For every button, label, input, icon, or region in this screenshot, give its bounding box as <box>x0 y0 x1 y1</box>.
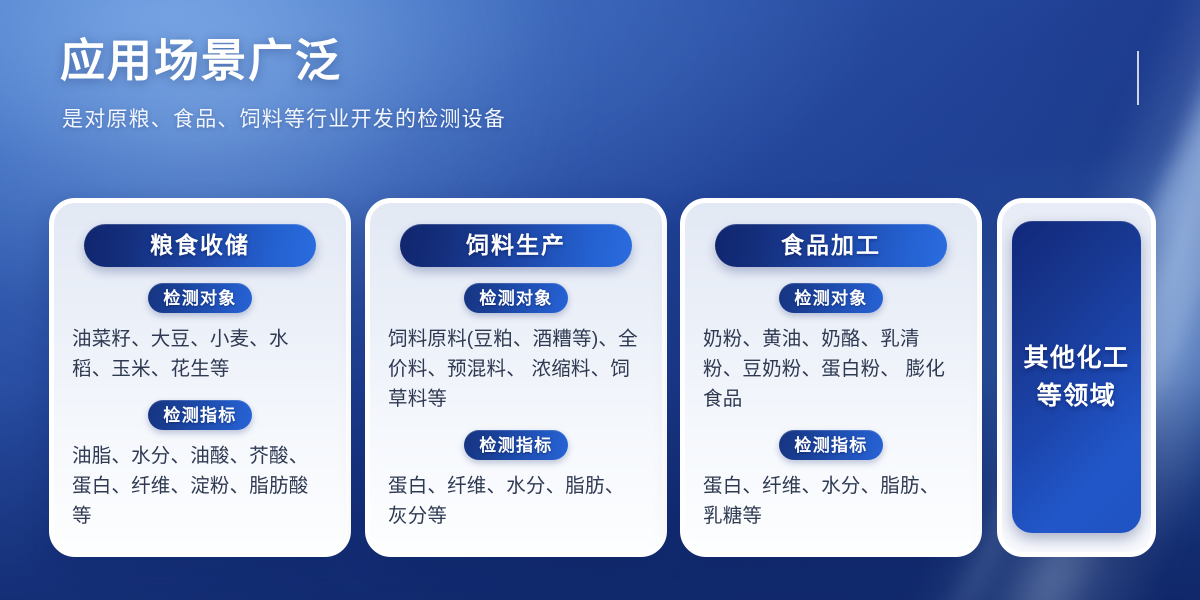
card-body: 检测对象 油菜籽、大豆、小麦、水稻、玉米、花生等 检测指标 油脂、水分、油酸、芥… <box>54 283 346 531</box>
detection-index-badge: 检测指标 <box>464 430 567 460</box>
detection-index-badge: 检测指标 <box>779 430 882 460</box>
other-card-line-2: 等领域 <box>1037 382 1117 410</box>
detection-index-badge-label: 检测指标 <box>163 407 236 424</box>
other-card-line-1: 其他化工 <box>1023 344 1129 372</box>
detection-index-text: 蛋白、纤维、水分、脂肪、灰分等 <box>388 471 644 531</box>
spacer <box>703 414 959 430</box>
card-body: 检测对象 奶粉、黄油、奶酪、乳清粉、豆奶粉、蛋白粉、 膨化食品 检测指标 蛋白、… <box>685 283 977 531</box>
detection-object-text: 奶粉、黄油、奶酪、乳清粉、豆奶粉、蛋白粉、 膨化食品 <box>703 324 959 414</box>
card-title-pill: 饲料生产 <box>400 224 632 267</box>
detection-object-badge: 检测对象 <box>148 283 251 313</box>
banner-header: 应用场景广泛 是对原粮、食品、饲料等行业开发的检测设备 <box>60 38 506 130</box>
detection-object-text: 油菜籽、大豆、小麦、水稻、玉米、花生等 <box>72 324 328 384</box>
detection-object-text: 饲料原料(豆粕、酒糟等)、全价料、预混料、 浓缩料、饲草料等 <box>388 324 644 414</box>
detection-object-badge: 检测对象 <box>779 283 882 313</box>
spacer <box>388 414 644 430</box>
other-card-label: 其他化工 等领域 <box>1023 339 1129 415</box>
banner-stage: 应用场景广泛 是对原粮、食品、饲料等行业开发的检测设备 粮食收储 检测对象 油菜… <box>0 0 1200 600</box>
object-badge-row: 检测对象 <box>703 283 959 313</box>
detection-object-badge-label: 检测对象 <box>794 290 867 307</box>
card-body: 检测对象 饲料原料(豆粕、酒糟等)、全价料、预混料、 浓缩料、饲草料等 检测指标… <box>370 283 662 531</box>
object-badge-row: 检测对象 <box>72 283 328 313</box>
card-title-label: 食品加工 <box>781 234 881 257</box>
other-card-panel: 其他化工 等领域 <box>1012 221 1141 533</box>
scenario-card-grain-storage[interactable]: 粮食收储 检测对象 油菜籽、大豆、小麦、水稻、玉米、花生等 检测指标 油脂、水分… <box>49 198 351 557</box>
index-badge-row: 检测指标 <box>388 430 644 460</box>
detection-index-badge-label: 检测指标 <box>794 437 867 454</box>
detection-object-badge-label: 检测对象 <box>163 290 236 307</box>
detection-object-badge: 检测对象 <box>464 283 567 313</box>
detection-index-badge: 检测指标 <box>148 400 251 430</box>
scenario-card-feed-production[interactable]: 饲料生产 检测对象 饲料原料(豆粕、酒糟等)、全价料、预混料、 浓缩料、饲草料等… <box>365 198 667 557</box>
detection-index-text: 油脂、水分、油酸、芥酸、蛋白、纤维、淀粉、脂肪酸等 <box>72 441 328 531</box>
scenario-card-other-chemical[interactable]: 其他化工 等领域 <box>997 198 1156 557</box>
index-badge-row: 检测指标 <box>703 430 959 460</box>
index-badge-row: 检测指标 <box>72 400 328 430</box>
scenario-card-food-processing[interactable]: 食品加工 检测对象 奶粉、黄油、奶酪、乳清粉、豆奶粉、蛋白粉、 膨化食品 检测指… <box>680 198 982 557</box>
header-divider-rule <box>1137 51 1139 105</box>
card-title-pill: 粮食收储 <box>84 224 316 267</box>
card-title-pill: 食品加工 <box>715 224 947 267</box>
detection-object-badge-label: 检测对象 <box>479 290 552 307</box>
detection-index-text: 蛋白、纤维、水分、脂肪、乳糖等 <box>703 471 959 531</box>
scenario-card-row: 粮食收储 检测对象 油菜籽、大豆、小麦、水稻、玉米、花生等 检测指标 油脂、水分… <box>49 198 1156 558</box>
page-title: 应用场景广泛 <box>60 38 506 83</box>
spacer <box>72 384 328 400</box>
object-badge-row: 检测对象 <box>388 283 644 313</box>
detection-index-badge-label: 检测指标 <box>479 437 552 454</box>
page-subtitle: 是对原粮、食品、饲料等行业开发的检测设备 <box>62 109 506 130</box>
card-title-label: 饲料生产 <box>466 234 566 257</box>
card-title-label: 粮食收储 <box>150 234 250 257</box>
